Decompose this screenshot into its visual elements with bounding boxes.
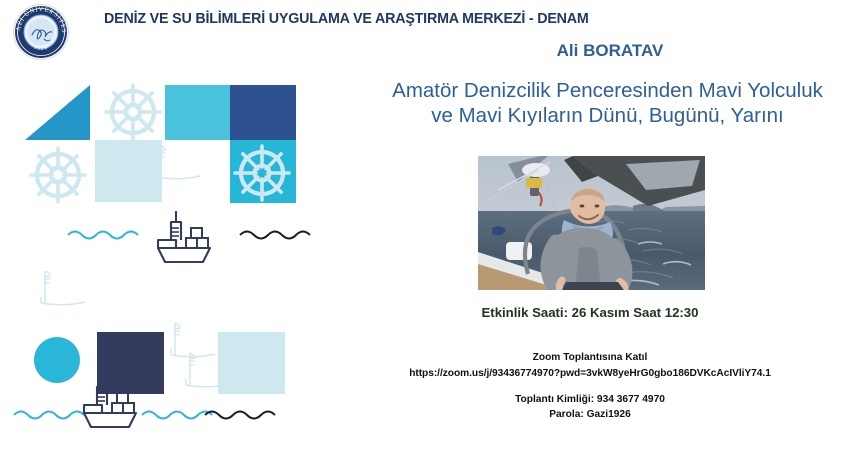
poster-canvas: GAZİ ÜNİVERSİTESİ 1926 DENİZ VE SU BİLİM… [0,0,860,465]
wave-cyan-1 [68,232,138,239]
speaker-photo [478,156,705,290]
maritime-decorative-artwork [0,70,330,460]
wave-cyan-2 [14,412,84,419]
wave-navy-2 [205,412,275,419]
square-pale-blue-1 [95,140,162,202]
square-royal-blue [230,85,296,140]
circle-cyan [34,337,80,383]
square-cyan [165,85,230,140]
zoom-join-label: Zoom Toplantısına Katıl [400,352,780,363]
talk-title-line1: Amatör Denizcilik Penceresinden Mavi Yol… [355,78,860,103]
ships-wheel-pale-2 [31,148,85,202]
zoom-passcode: Parola: Gazi1926 [400,409,780,420]
cargo-ship-1 [158,211,210,262]
wave-cyan-3 [142,412,212,419]
square-dark-navy [97,332,164,394]
sailboat-outline-3 [171,323,215,357]
sailboat-outline-1 [156,145,200,179]
gazi-universitesi-logo: GAZİ ÜNİVERSİTESİ 1926 [10,3,72,61]
talk-title-line2: ve Mavi Kıyıların Dünü, Bugünü, Yarını [355,103,860,128]
square-pale-blue-2 [218,332,285,394]
talk-title: Amatör Denizcilik Penceresinden Mavi Yol… [355,78,860,128]
wave-navy-1 [240,232,310,239]
zoom-meeting-id: Toplantı Kimliği: 934 3677 4970 [400,394,780,405]
speaker-name: Ali BORATAV [360,41,860,61]
zoom-meeting-link[interactable]: https://zoom.us/j/93436774970?pwd=3vkW8y… [330,368,850,379]
ships-wheel-pale-1 [106,85,160,139]
page-title: DENİZ VE SU BİLİMLERİ UYGULAMA VE ARAŞTI… [104,11,589,27]
event-time: Etkinlik Saati: 26 Kasım Saat 12:30 [400,305,780,320]
sailboat-outline-2 [41,271,85,305]
